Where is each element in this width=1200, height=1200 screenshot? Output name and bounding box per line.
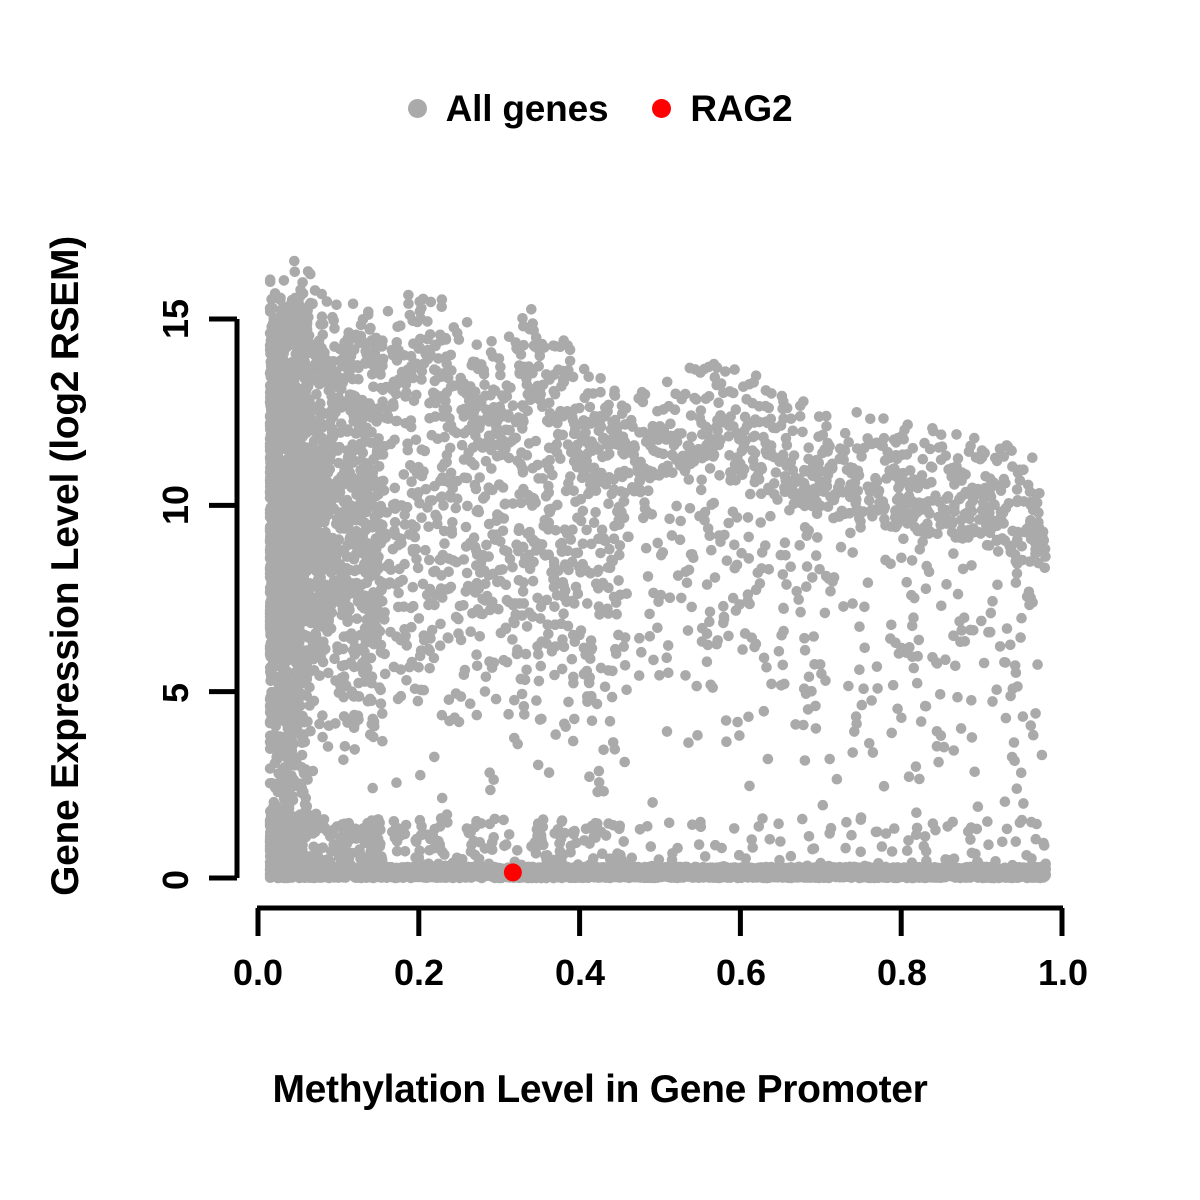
y-axis-tick-15: 15	[158, 281, 198, 357]
x-axis-tick-0.4: 0.4	[520, 955, 640, 991]
y-axis-tick-0: 0	[158, 850, 198, 910]
x-axis-tick-1.0: 1.0	[1003, 955, 1123, 991]
y-axis-tick-5: 5	[158, 663, 198, 723]
scatter-plot-figure: All genes RAG2 0 5 10 15 0.0 0.2 0.4 0.6…	[0, 0, 1200, 1200]
rag2-data-point[interactable]	[504, 863, 522, 881]
x-axis-tick-0.2: 0.2	[359, 955, 479, 991]
x-axis-tick-0.6: 0.6	[681, 955, 801, 991]
y-axis-title-container: Gene Expression Level (log2 RSEM)	[42, 146, 90, 986]
plot-canvas	[0, 0, 1200, 1200]
y-axis-tick-10: 10	[158, 467, 198, 543]
all-genes-point-cloud	[265, 256, 1051, 884]
x-axis-tick-0.0: 0.0	[198, 955, 318, 991]
data-points-layer	[265, 256, 1051, 884]
highlight-point-layer	[504, 863, 522, 881]
y-axis-title: Gene Expression Level (log2 RSEM)	[44, 236, 88, 896]
x-axis-title: Methylation Level in Gene Promoter	[0, 1068, 1200, 1112]
x-axis-tick-0.8: 0.8	[842, 955, 962, 991]
